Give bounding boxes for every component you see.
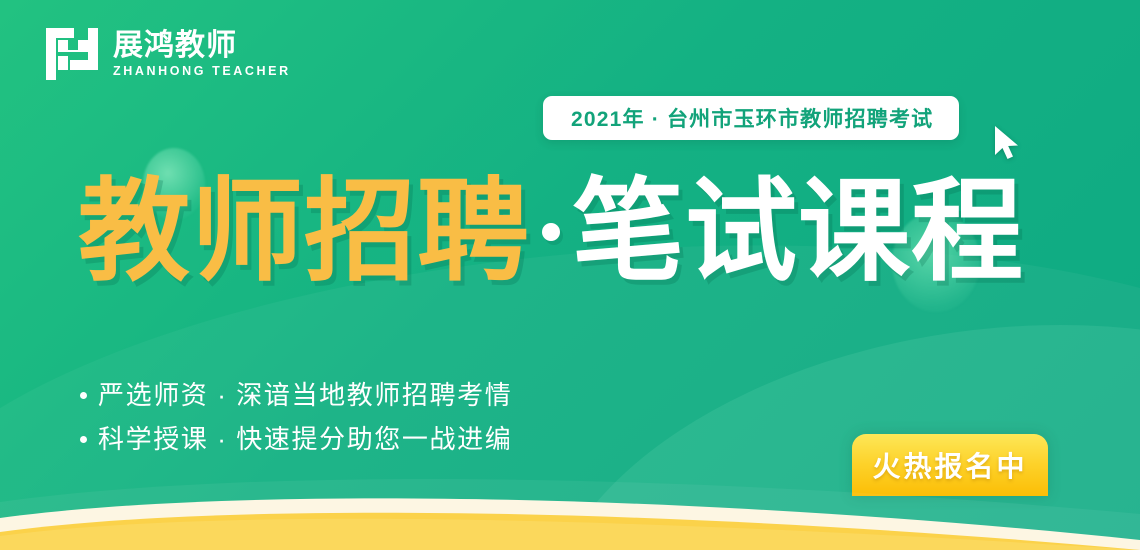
feature-list: 严选师资 · 深谙当地教师招聘考情 科学授课 · 快速提分助您一战进编 <box>80 382 512 470</box>
feature-text: 科学授课 · 快速提分助您一战进编 <box>98 426 512 452</box>
background-sheen-secondary <box>508 270 1140 550</box>
promotional-banner: 展鸿教师 ZHANHONG TEACHER 2021年 · 台州市玉环市教师招聘… <box>0 0 1140 550</box>
feature-text: 严选师资 · 深谙当地教师招聘考情 <box>98 382 512 408</box>
brand-wordmark: 展鸿教师 ZHANHONG TEACHER <box>113 28 291 80</box>
wave-cream <box>0 498 1140 550</box>
enroll-button-label: 火热报名中 <box>872 445 1027 485</box>
mouse-pointer-icon <box>992 124 1022 162</box>
bullet-dot-icon <box>80 392 87 399</box>
enroll-button[interactable]: 火热报名中 <box>852 434 1048 496</box>
headline-secondary: 笔试课程 <box>572 176 1024 288</box>
headline-primary: 教师招聘 <box>78 176 530 288</box>
headline: 教师招聘 笔试课程 <box>78 176 1024 288</box>
zhanhong-h-mark-icon <box>44 26 100 82</box>
list-item: 严选师资 · 深谙当地教师招聘考情 <box>80 382 512 408</box>
brand-name-en: ZHANHONG TEACHER <box>113 64 291 80</box>
list-item: 科学授课 · 快速提分助您一战进编 <box>80 426 512 452</box>
wave-yellow-light <box>0 519 1140 550</box>
brand-logo[interactable]: 展鸿教师 ZHANHONG TEACHER <box>44 26 291 82</box>
exam-ribbon-text: 2021年 · 台州市玉环市教师招聘考试 <box>571 103 933 133</box>
exam-ribbon: 2021年 · 台州市玉环市教师招聘考试 <box>543 96 959 140</box>
brand-name-cn: 展鸿教师 <box>113 30 291 62</box>
bullet-dot-icon <box>80 436 87 443</box>
wave-yellow <box>0 513 1140 550</box>
headline-separator-dot <box>542 223 560 241</box>
